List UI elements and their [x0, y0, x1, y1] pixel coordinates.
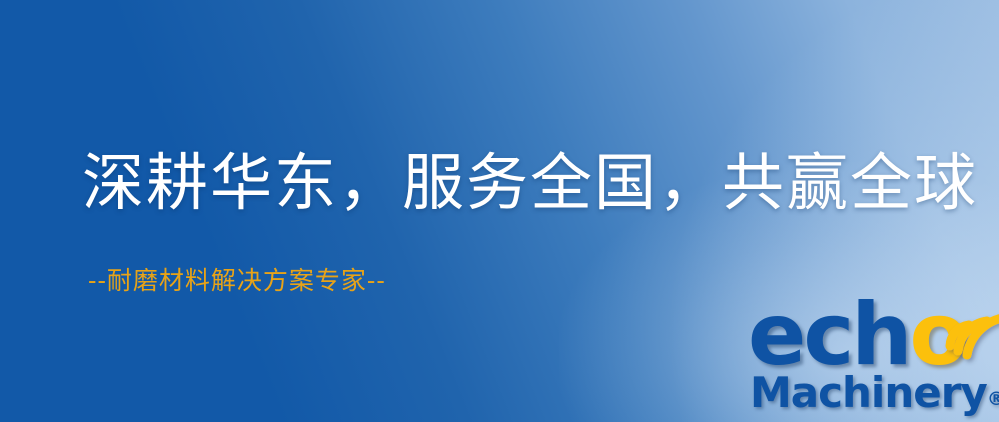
logo-wordmark: echo — [748, 296, 999, 378]
registered-trademark-icon: ® — [987, 388, 999, 410]
echo-machinery-logo[interactable]: echo Machinery® — [748, 296, 999, 422]
logo-echo-text: echo — [748, 292, 966, 378]
signal-arcs-icon — [944, 294, 999, 358]
banner-headline: 深耕华东，服务全国，共赢全球 — [82, 152, 978, 214]
logo-tagline-text: Machinery — [750, 368, 987, 417]
banner-subtitle: --耐磨材料解决方案专家-- — [88, 268, 386, 293]
logo-tagline: Machinery® — [750, 372, 999, 420]
promotional-banner: 深耕华东，服务全国，共赢全球 --耐磨材料解决方案专家-- echo Machi… — [0, 0, 999, 422]
